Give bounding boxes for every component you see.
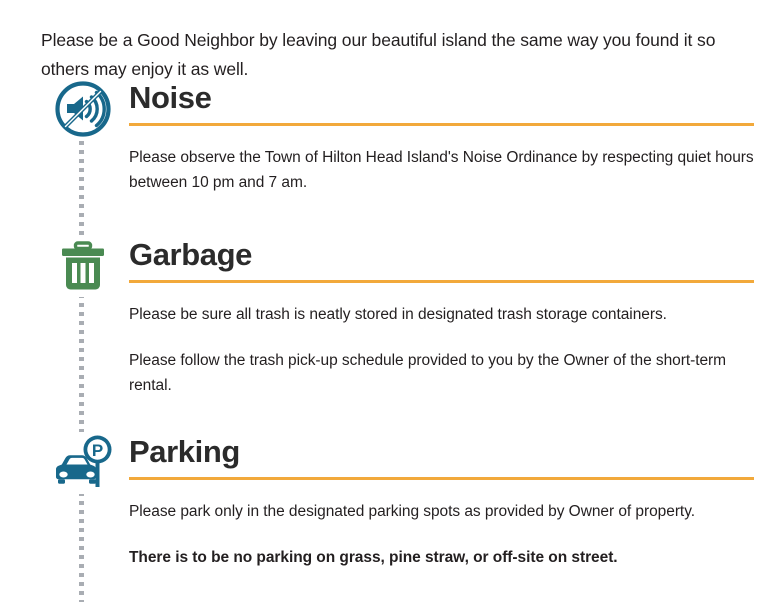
section-parking-paragraph-1: Please park only in the designated parki… [129,480,754,524]
section-garbage-body: Garbage Please be sure all trash is neat… [129,235,754,398]
section-noise-heading: Noise [129,78,754,118]
section-garbage-paragraph-1: Please be sure all trash is neatly store… [129,283,754,327]
section-parking-heading: Parking [129,432,754,472]
intro-paragraph: Please be a Good Neighbor by leaving our… [41,26,746,84]
section-parking-body: Parking Please park only in the designat… [129,432,754,570]
section-noise-paragraph-1: Please observe the Town of Hilton Head I… [129,126,754,195]
muted-speaker-icon [52,78,114,140]
section-parking-paragraph-2: There is to be no parking on grass, pine… [129,524,754,570]
trash-can-icon [52,235,114,297]
section-garbage-heading: Garbage [129,235,754,275]
section-garbage-paragraph-2: Please follow the trash pick-up schedule… [129,327,754,398]
svg-text:P: P [92,441,103,460]
dotted-connector-rail [79,96,84,602]
section-noise-body: Noise Please observe the Town of Hilton … [129,78,754,195]
car-parking-sign-icon: P [52,432,114,494]
